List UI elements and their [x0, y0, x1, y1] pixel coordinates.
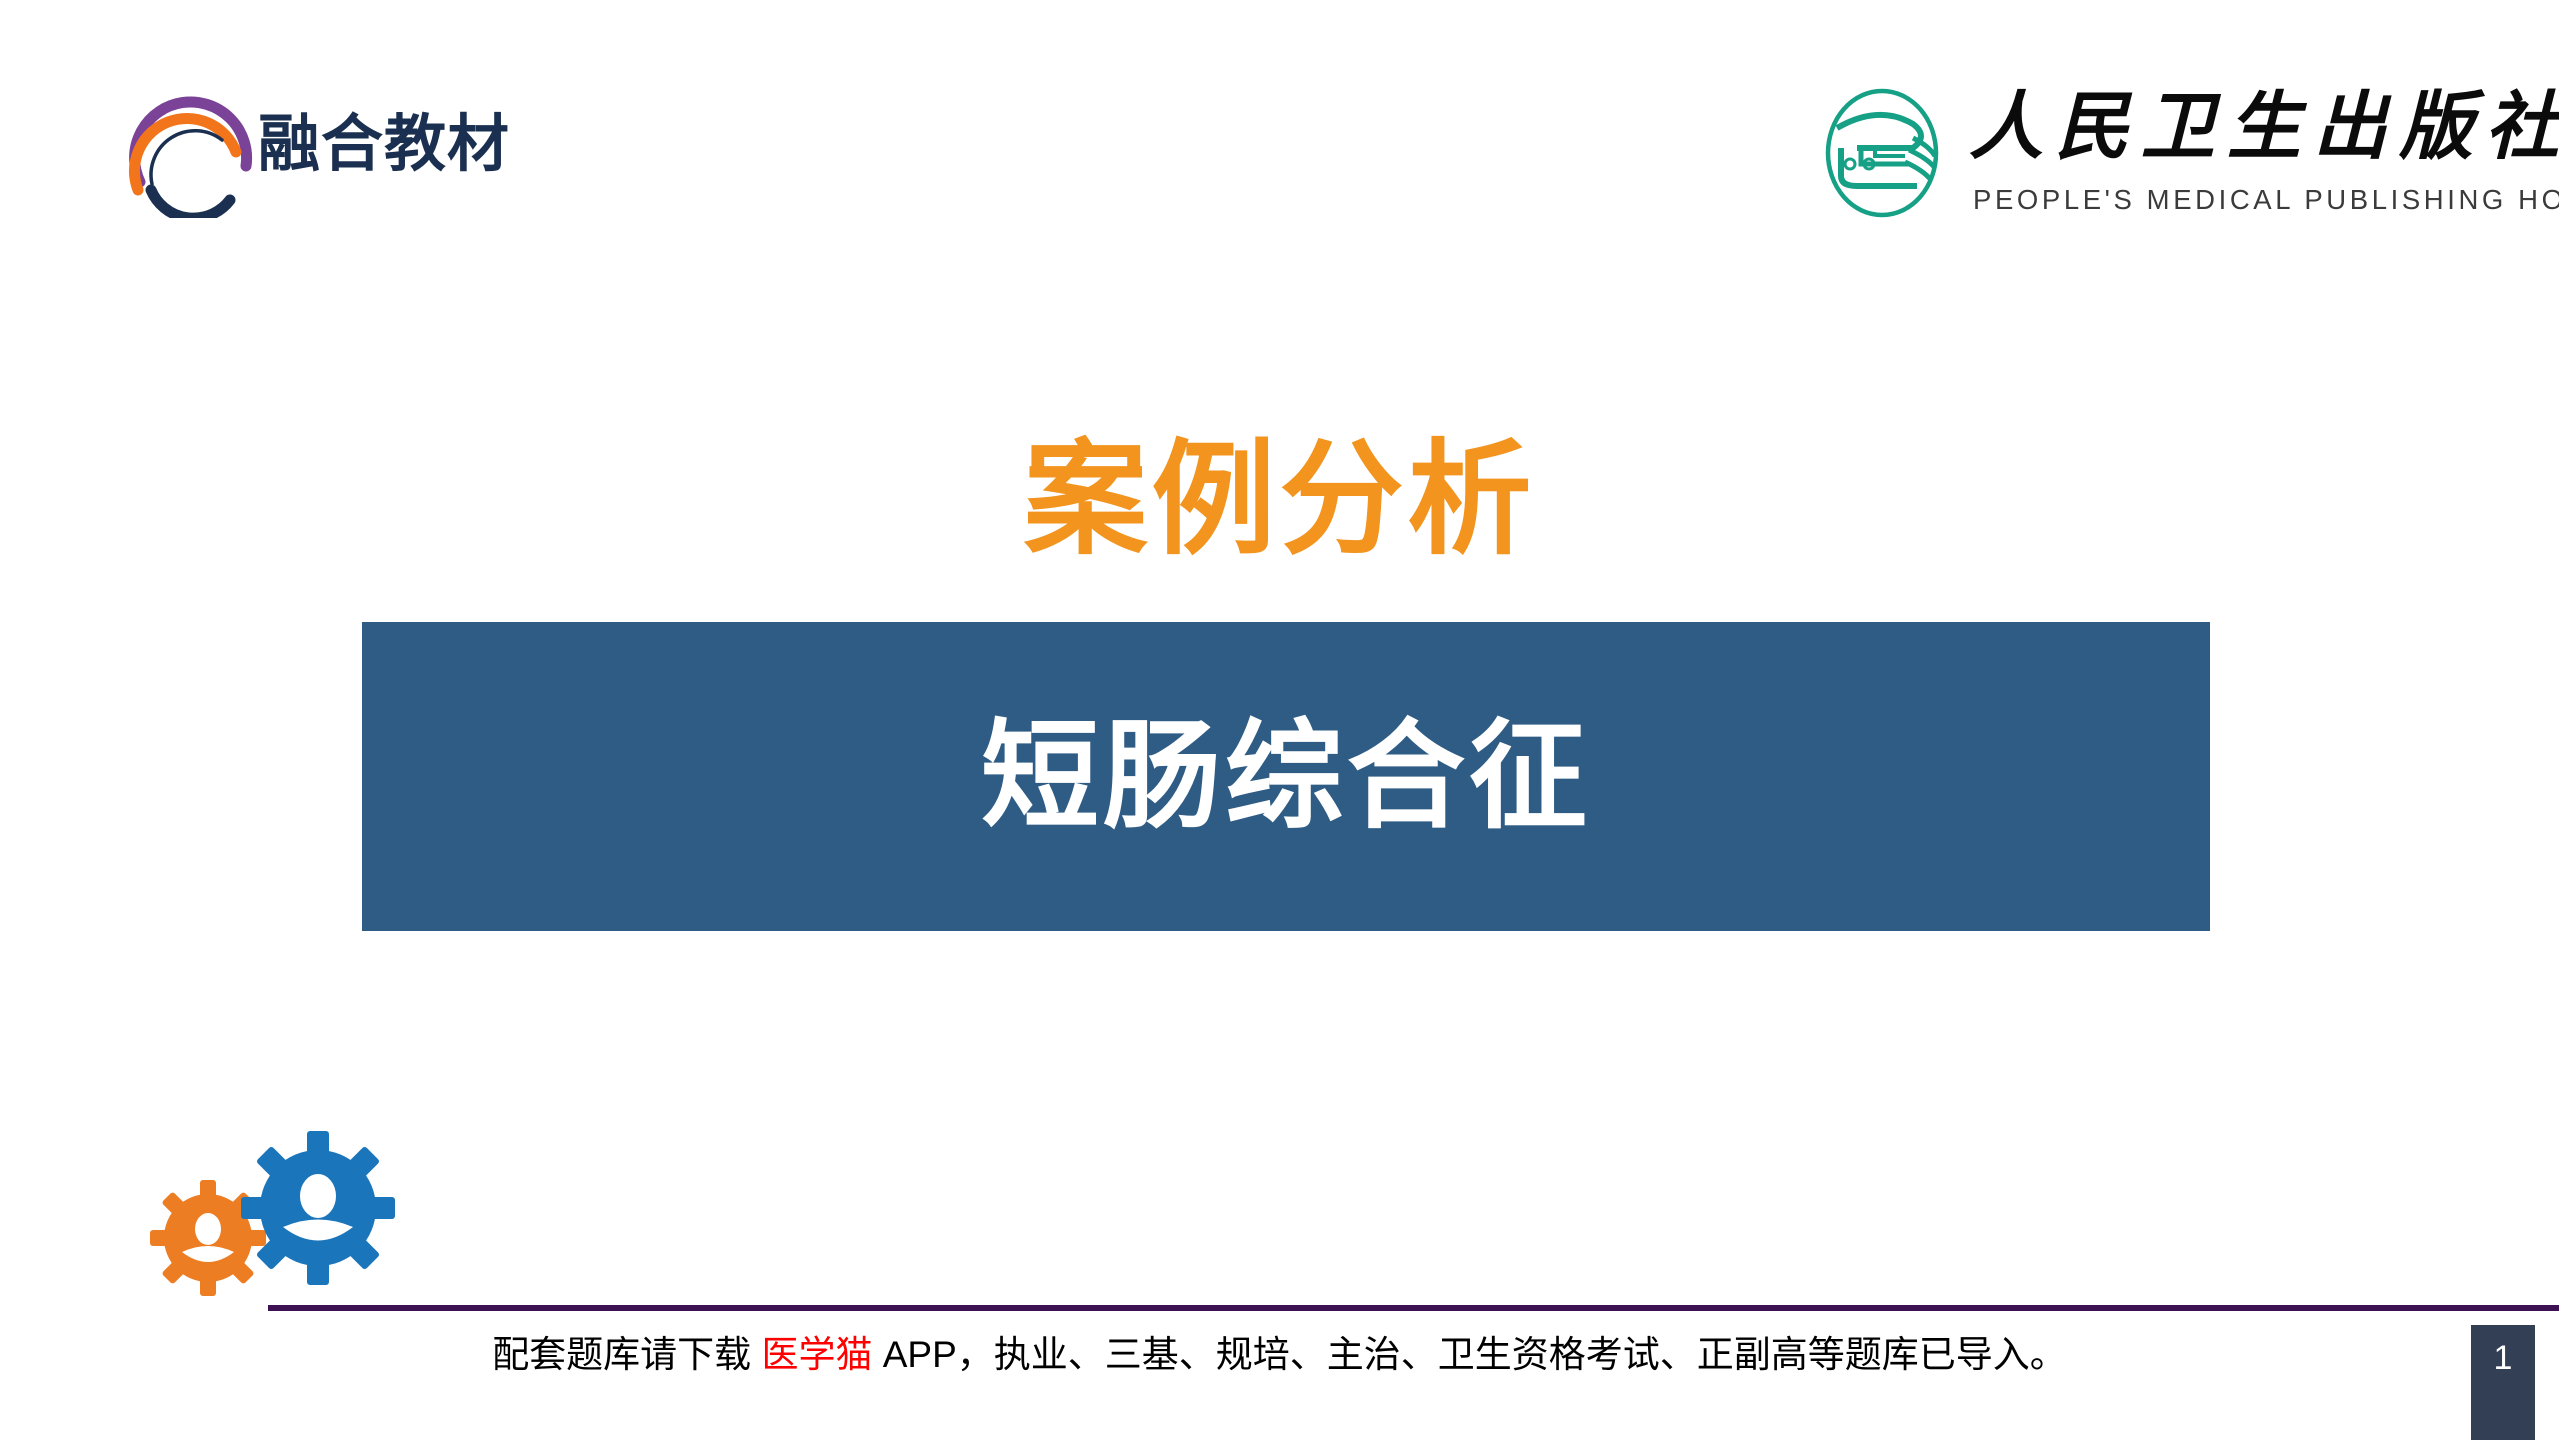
fusion-textbook-logo: 融合教材: [118, 78, 438, 218]
gear-large-icon: [241, 1131, 395, 1285]
subtitle-banner: 短肠综合征: [362, 622, 2210, 931]
footer-text-after: APP，执业、三基、规培、主治、卫生资格考试、正副高等题库已导入。: [883, 1334, 2067, 1375]
pmph-emblem-icon: [1817, 88, 1947, 218]
page-title: 案例分析: [0, 432, 2559, 568]
subtitle-text: 短肠综合征: [981, 718, 1591, 836]
fusion-textbook-label: 融合教材: [258, 114, 510, 176]
fusion-circle-arcs-icon: [118, 78, 278, 218]
footer-text-before: 配套题库请下载: [492, 1334, 751, 1375]
gears-decoration: [150, 1110, 420, 1310]
presentation-slide: 融合教材 人民卫生出版社 PEOPLE'S MEDICAL PUBLISHING…: [0, 0, 2559, 1440]
footer-app-name: 医学猫: [761, 1334, 872, 1375]
pmph-chinese-name: 人民卫生出版社: [1969, 90, 2559, 164]
page-number-badge: 1: [2471, 1325, 2535, 1440]
footer-divider: [268, 1305, 2559, 1311]
footer-note: 配套题库请下载 医学猫 APP，执业、三基、规培、主治、卫生资格考试、正副高等题…: [0, 1332, 2559, 1378]
pmph-english-name: PEOPLE'S MEDICAL PUBLISHING HOUSE: [1973, 184, 2559, 216]
pmph-logo: 人民卫生出版社 PEOPLE'S MEDICAL PUBLISHING HOUS…: [1817, 88, 2497, 220]
